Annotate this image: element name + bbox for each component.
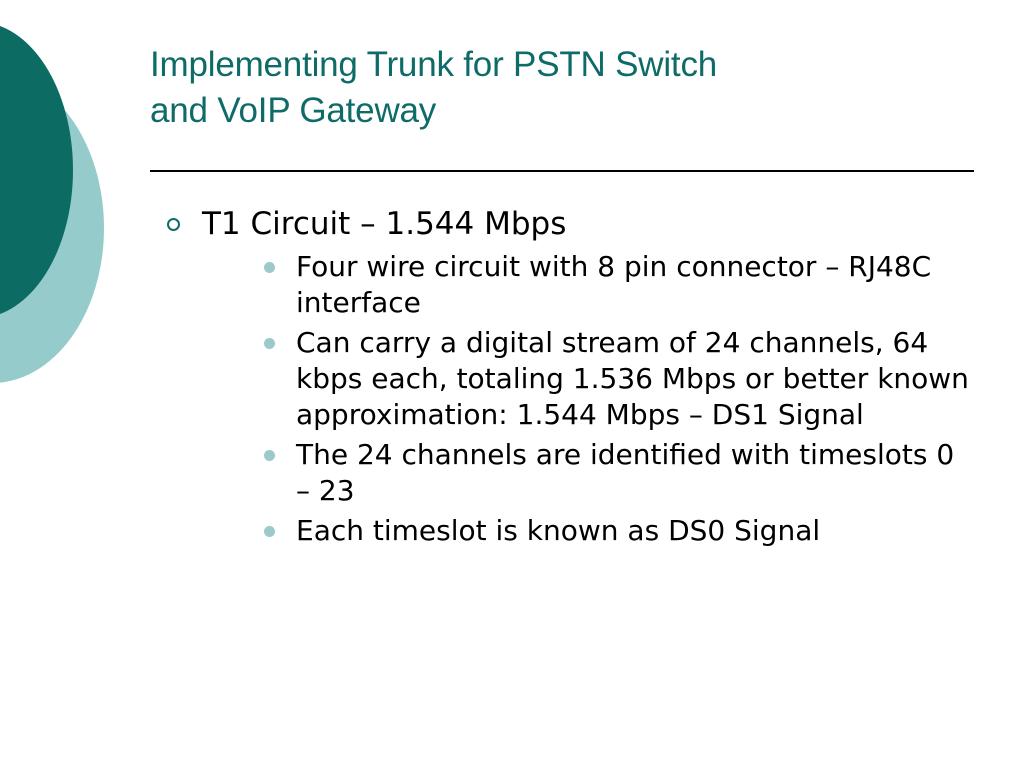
filled-dot-bullet-icon bbox=[264, 262, 275, 273]
page-title: Implementing Trunk for PSTN Switch and V… bbox=[150, 42, 980, 134]
title-block: Implementing Trunk for PSTN Switch and V… bbox=[150, 42, 980, 134]
list-item-label: Can carry a digital stream of 24 channel… bbox=[296, 325, 970, 433]
bullet-list-level-1: T1 Circuit – 1.544 Mbps Four wire circui… bbox=[150, 204, 970, 549]
list-item-label: Each timeslot is known as DS0 Signal bbox=[296, 513, 970, 549]
list-item: Can carry a digital stream of 24 channel… bbox=[248, 325, 970, 433]
list-item: T1 Circuit – 1.544 Mbps Four wire circui… bbox=[150, 204, 970, 549]
light-teal-circle bbox=[0, 73, 104, 383]
content-body: T1 Circuit – 1.544 Mbps Four wire circui… bbox=[150, 204, 970, 549]
title-divider bbox=[150, 170, 974, 172]
presentation-slide: Implementing Trunk for PSTN Switch and V… bbox=[0, 0, 1024, 768]
filled-dot-bullet-icon bbox=[264, 450, 275, 461]
list-item-label: Four wire circuit with 8 pin connector –… bbox=[296, 249, 970, 321]
list-item-label: T1 Circuit – 1.544 Mbps bbox=[202, 204, 970, 245]
list-item: Each timeslot is known as DS0 Signal bbox=[248, 513, 970, 549]
list-item: The 24 channels are identified with time… bbox=[248, 437, 970, 509]
filled-dot-bullet-icon bbox=[264, 526, 275, 537]
filled-dot-bullet-icon bbox=[264, 338, 275, 349]
page-title-line-1: Implementing Trunk for PSTN Switch bbox=[150, 45, 717, 84]
dark-teal-circle bbox=[0, 22, 73, 318]
bullet-list-level-2: Four wire circuit with 8 pin connector –… bbox=[248, 249, 970, 549]
list-item-label: The 24 channels are identified with time… bbox=[296, 437, 970, 509]
hollow-circle-bullet-icon bbox=[167, 218, 180, 231]
page-title-line-2: and VoIP Gateway bbox=[150, 91, 436, 130]
list-item: Four wire circuit with 8 pin connector –… bbox=[248, 249, 970, 321]
